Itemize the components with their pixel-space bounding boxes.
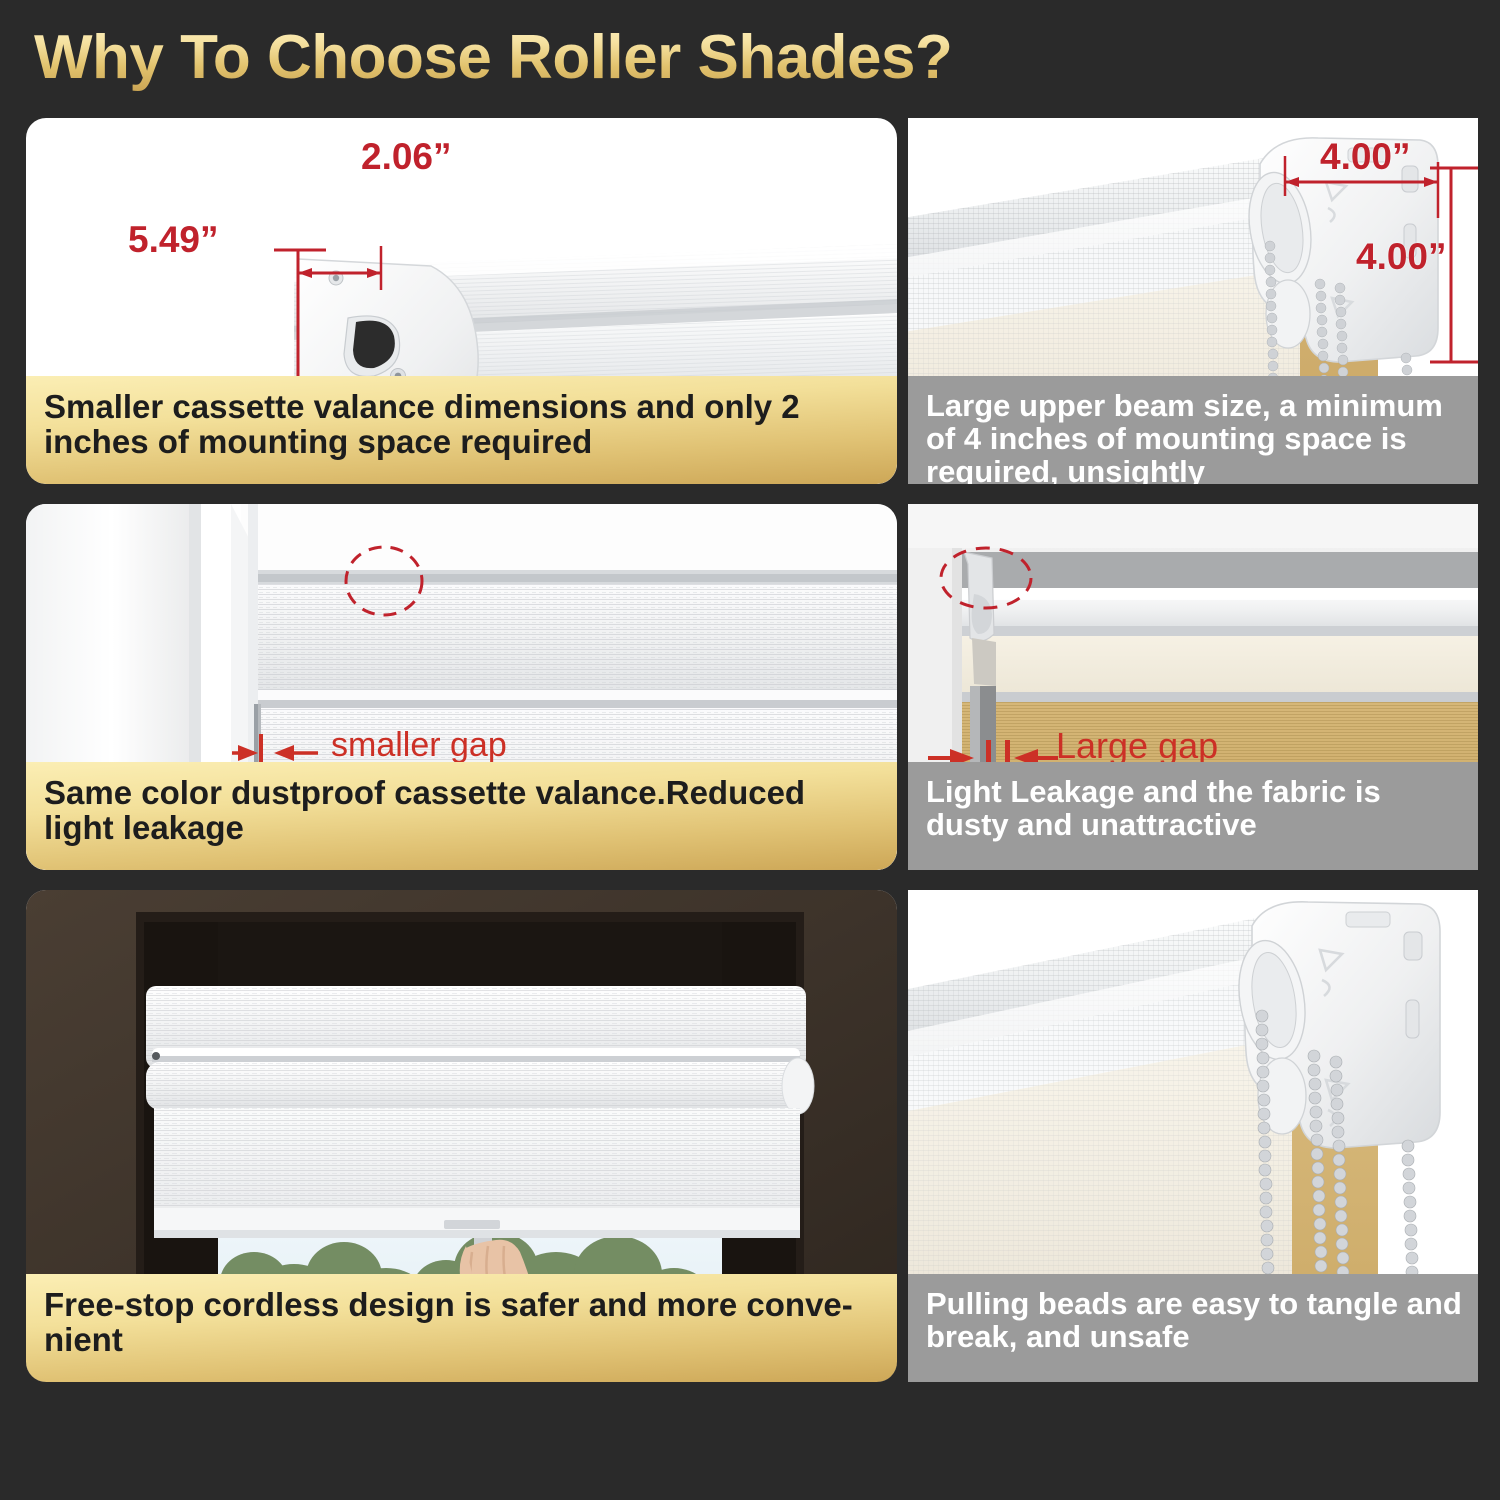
- width-dimension-label: 2.06”: [361, 136, 452, 178]
- caption-top-left: Smaller cassette valance dimensions and …: [26, 376, 897, 484]
- panel-bottom-left: Free-stop cordless design is safer and m…: [26, 890, 897, 1382]
- header-bar: Why To Choose Roller Shades?: [0, 0, 1500, 110]
- panel-middle-right: Large gap Light Leakage and the fabric i…: [908, 504, 1478, 870]
- panel-bottom-right: Pulling beads are easy to tangle and bre…: [908, 890, 1478, 1382]
- caption-middle-right: Light Leakage and the fabric is dusty an…: [908, 762, 1478, 870]
- caption-top-right: Large upper beam size, a minimum of 4 in…: [908, 376, 1478, 484]
- caption-middle-left: Same color dustproof cassette valance.Re…: [26, 762, 897, 870]
- caption-bottom-right: Pulling beads are easy to tangle and bre…: [908, 1274, 1478, 1382]
- panel-top-left: 2.06” 5.49” Smaller cassette valance dim…: [26, 118, 897, 484]
- height-dimension-label: 4.00”: [1356, 236, 1447, 278]
- page-title: Why To Choose Roller Shades?: [34, 22, 952, 93]
- height-dimension-label: 5.49”: [128, 219, 219, 261]
- width-dimension-label: 4.00”: [1320, 136, 1411, 178]
- panel-top-right: 4.00” 4.00” Large upper beam size, a min…: [908, 118, 1478, 484]
- caption-bottom-left: Free-stop cordless design is safer and m…: [26, 1274, 897, 1382]
- smaller-gap-label: smaller gap: [331, 726, 507, 765]
- panel-middle-left: smaller gap Same color dustproof cassett…: [26, 504, 897, 870]
- large-gap-label: Large gap: [1056, 725, 1218, 767]
